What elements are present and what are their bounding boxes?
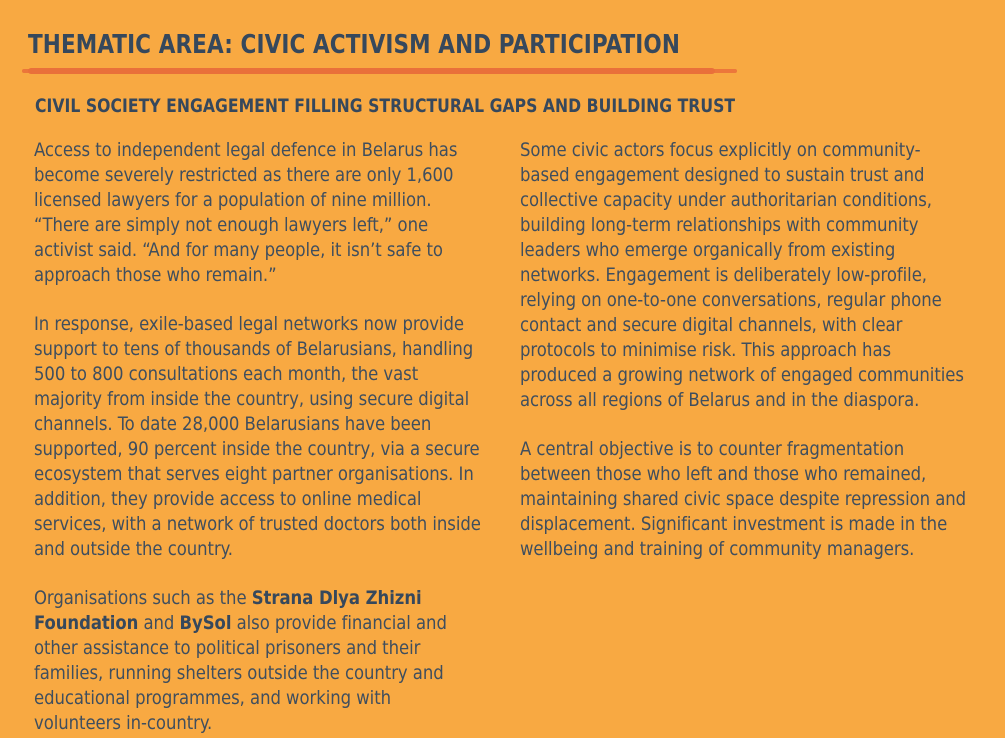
right-paragraph-2: A central objective is to counter fragme…: [520, 437, 967, 562]
left-paragraph-2: In response, exile-based legal networks …: [34, 312, 481, 562]
paragraph-3-text-part-1: Organisations such as the: [34, 588, 252, 609]
left-column: Access to independent legal defence in B…: [34, 138, 488, 736]
paragraph-3-text-part-2: and: [138, 613, 179, 634]
report-page: THEMATIC AREA: CIVIC ACTIVISM AND PARTIC…: [0, 0, 1005, 738]
organisation-name-bysol: BySol: [180, 613, 232, 634]
right-paragraph-1: Some civic actors focus explicitly on co…: [520, 138, 967, 413]
section-subtitle: CIVIL SOCIETY ENGAGEMENT FILLING STRUCTU…: [35, 96, 735, 117]
title-underline-rule: [28, 68, 715, 74]
page-header: THEMATIC AREA: CIVIC ACTIVISM AND PARTIC…: [28, 30, 968, 74]
content-columns: Access to independent legal defence in B…: [34, 138, 974, 736]
left-paragraph-1: Access to independent legal defence in B…: [34, 138, 481, 288]
left-paragraph-3: Organisations such as the Strana Dlya Zh…: [34, 586, 481, 736]
right-column: Some civic actors focus explicitly on co…: [520, 138, 974, 562]
page-title: THEMATIC AREA: CIVIC ACTIVISM AND PARTIC…: [28, 30, 912, 60]
